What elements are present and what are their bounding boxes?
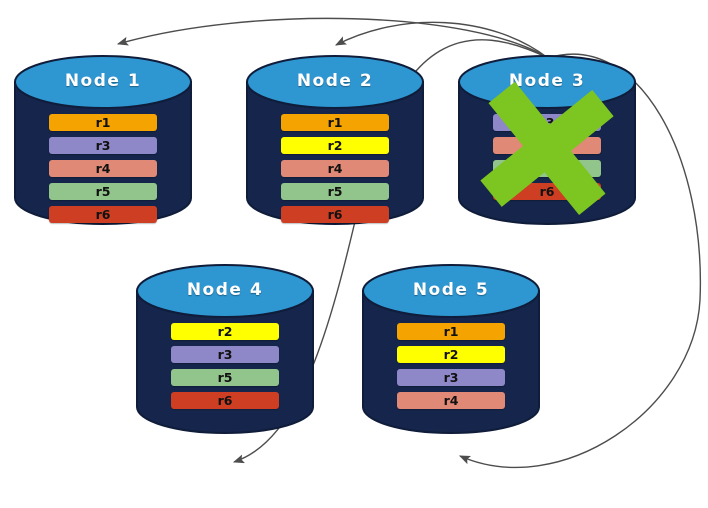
replica-row-list: r1r2r3r4 bbox=[362, 323, 540, 415]
cylinder-top-ellipse bbox=[137, 265, 313, 317]
replica-row[interactable]: r6 bbox=[49, 206, 157, 223]
replica-row[interactable]: r2 bbox=[171, 323, 279, 340]
cylinder-top-ellipse bbox=[247, 56, 423, 108]
replica-row-list: r2r3r5r6 bbox=[136, 323, 314, 415]
node-cylinder-3[interactable]: Node 3r3r4r5r6 bbox=[458, 56, 636, 224]
replica-row[interactable]: r5 bbox=[49, 183, 157, 200]
replica-row[interactable]: r4 bbox=[281, 160, 389, 177]
replica-row[interactable]: r6 bbox=[493, 183, 601, 200]
replica-row[interactable]: r3 bbox=[49, 137, 157, 154]
replica-row[interactable]: r6 bbox=[171, 392, 279, 409]
replica-row[interactable]: r4 bbox=[493, 137, 601, 154]
replica-row[interactable]: r3 bbox=[493, 114, 601, 131]
replica-row[interactable]: r5 bbox=[281, 183, 389, 200]
arrow-node3-to-node1 bbox=[118, 18, 548, 58]
cylinder-top-ellipse bbox=[459, 56, 635, 108]
replica-row[interactable]: r1 bbox=[281, 114, 389, 131]
replica-row[interactable]: r1 bbox=[397, 323, 505, 340]
replica-row[interactable]: r4 bbox=[49, 160, 157, 177]
cylinder-top-ellipse bbox=[363, 265, 539, 317]
replica-row-list: r1r2r4r5r6 bbox=[246, 114, 424, 229]
replica-row[interactable]: r6 bbox=[281, 206, 389, 223]
replica-row[interactable]: r4 bbox=[397, 392, 505, 409]
arrow-node3-to-node2 bbox=[336, 22, 548, 58]
node-cylinder-1[interactable]: Node 1r1r3r4r5r6 bbox=[14, 56, 192, 224]
replica-row[interactable]: r3 bbox=[397, 369, 505, 386]
node-cylinder-5[interactable]: Node 5r1r2r3r4 bbox=[362, 265, 540, 433]
replica-row[interactable]: r5 bbox=[171, 369, 279, 386]
replica-row[interactable]: r2 bbox=[281, 137, 389, 154]
replica-row-list: r1r3r4r5r6 bbox=[14, 114, 192, 229]
replica-row[interactable]: r1 bbox=[49, 114, 157, 131]
cylinder-top-ellipse bbox=[15, 56, 191, 108]
node-cylinder-4[interactable]: Node 4r2r3r5r6 bbox=[136, 265, 314, 433]
replica-row-list: r3r4r5r6 bbox=[458, 114, 636, 206]
replica-row[interactable]: r3 bbox=[171, 346, 279, 363]
node-cylinder-2[interactable]: Node 2r1r2r4r5r6 bbox=[246, 56, 424, 224]
replica-row[interactable]: r5 bbox=[493, 160, 601, 177]
diagram-canvas: Node 1r1r3r4r5r6Node 2r1r2r4r5r6Node 3r3… bbox=[0, 0, 708, 508]
replica-row[interactable]: r2 bbox=[397, 346, 505, 363]
